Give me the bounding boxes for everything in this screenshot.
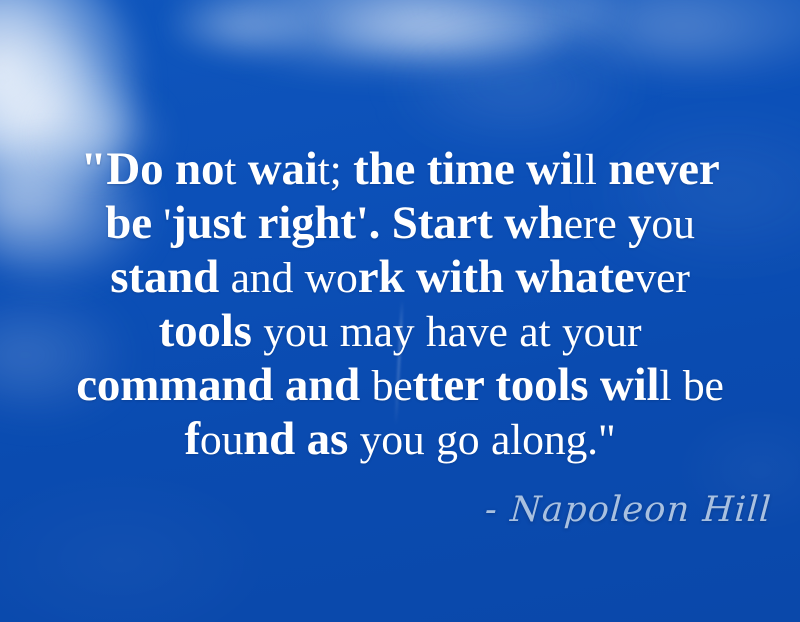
- quote-line-4: tools you may have at your: [12, 305, 788, 359]
- quote-line-6: found as you go along.": [12, 413, 788, 467]
- quote-line-2: be 'just right'. Start where you: [12, 197, 788, 251]
- cloud-top-wisp-left: [170, 0, 310, 55]
- quote-line-3: stand and work with whatever: [12, 251, 788, 305]
- quote-line-1: "Do not wait; the time will never: [12, 143, 788, 197]
- cloud-top-band: [180, 0, 610, 65]
- quote-attribution: - Napoleon Hill: [484, 487, 774, 533]
- quote-line-5: command and better tools will be: [12, 359, 788, 413]
- cloud-top-wisp-center: [330, 5, 560, 57]
- quote-text-block: "Do not wait; the time will never be 'ju…: [0, 143, 800, 467]
- cloud-top-right: [560, 0, 800, 65]
- cloud-haze-center: [400, 30, 630, 140]
- quote-poster: "Do not wait; the time will never be 'ju…: [0, 0, 800, 622]
